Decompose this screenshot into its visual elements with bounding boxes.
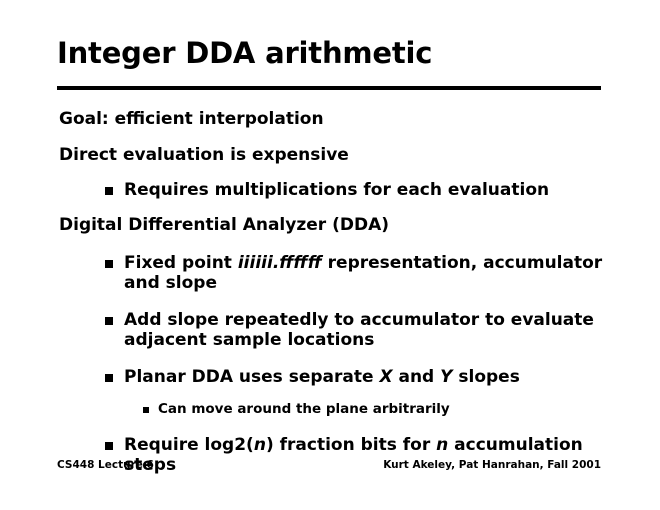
- square-bullet-icon: [105, 442, 113, 450]
- spacer: [0, 427, 660, 435]
- bullet-planar-dda: Planar DDA uses separate X and Y slopes: [0, 367, 660, 387]
- bullet-requires-multiplications: Requires multiplications for each evalua…: [0, 180, 660, 200]
- spacer: [0, 302, 660, 310]
- variable-n-emphasis: n: [254, 435, 266, 455]
- bullet-can-move-around-plane: Can move around the plane arbitrarily: [0, 401, 660, 418]
- bullet-require-log2-prefix: Require log2(: [124, 435, 254, 455]
- square-bullet-icon: [143, 407, 149, 413]
- slide: Integer DDA arithmetic Goal: efficient i…: [0, 0, 660, 510]
- bullet-goal-label: Goal: efficient interpolation: [59, 109, 324, 129]
- slide-body: Goal: efficient interpolation Direct eva…: [0, 108, 660, 484]
- axis-y-emphasis: Y: [440, 367, 452, 387]
- footer-authors-label: Kurt Akeley, Pat Hanrahan, Fall 2001: [383, 458, 601, 472]
- bullet-add-slope: Add slope repeatedly to accumulator to e…: [0, 310, 660, 350]
- page-title: Integer DDA arithmetic: [57, 36, 602, 70]
- bullet-fixed-point-prefix: Fixed point: [124, 253, 238, 273]
- variable-n-emphasis: n: [436, 435, 448, 455]
- bullet-can-move-around-plane-label: Can move around the plane arbitrarily: [158, 401, 450, 417]
- square-bullet-icon: [105, 260, 113, 268]
- square-bullet-icon: [105, 374, 113, 382]
- bullet-require-log2-middle: ) fraction bits for: [266, 435, 436, 455]
- bullet-goal: Goal: efficient interpolation: [0, 108, 660, 131]
- bullet-add-slope-label: Add slope repeatedly to accumulator to e…: [124, 310, 594, 350]
- bullet-requires-multiplications-label: Requires multiplications for each evalua…: [124, 180, 549, 200]
- axis-x-emphasis: X: [379, 367, 392, 387]
- bullet-direct-evaluation: Direct evaluation is expensive: [0, 144, 660, 167]
- bullet-dda-definition: Digital Differential Analyzer (DDA): [0, 214, 660, 237]
- square-bullet-icon: [105, 187, 113, 195]
- spacer: [0, 245, 660, 253]
- title-divider: [57, 86, 601, 90]
- bullet-direct-evaluation-label: Direct evaluation is expensive: [59, 145, 349, 165]
- slide-footer: CS448 Lecture 6 Kurt Akeley, Pat Hanraha…: [57, 458, 601, 472]
- bullet-dda-definition-label: Digital Differential Analyzer (DDA): [59, 215, 389, 235]
- bullet-planar-dda-conjunction: and: [393, 367, 441, 387]
- bullet-fixed-point: Fixed point iiiiii.ffffff representation…: [0, 253, 660, 293]
- fixed-point-format-emphasis: iiiiii.ffffff: [238, 253, 322, 273]
- title-block: Integer DDA arithmetic: [57, 36, 602, 70]
- square-bullet-icon: [105, 317, 113, 325]
- bullet-planar-dda-suffix: slopes: [452, 367, 519, 387]
- bullet-planar-dda-prefix: Planar DDA uses separate: [124, 367, 379, 387]
- spacer: [0, 359, 660, 367]
- footer-course-label: CS448 Lecture 6: [57, 458, 154, 472]
